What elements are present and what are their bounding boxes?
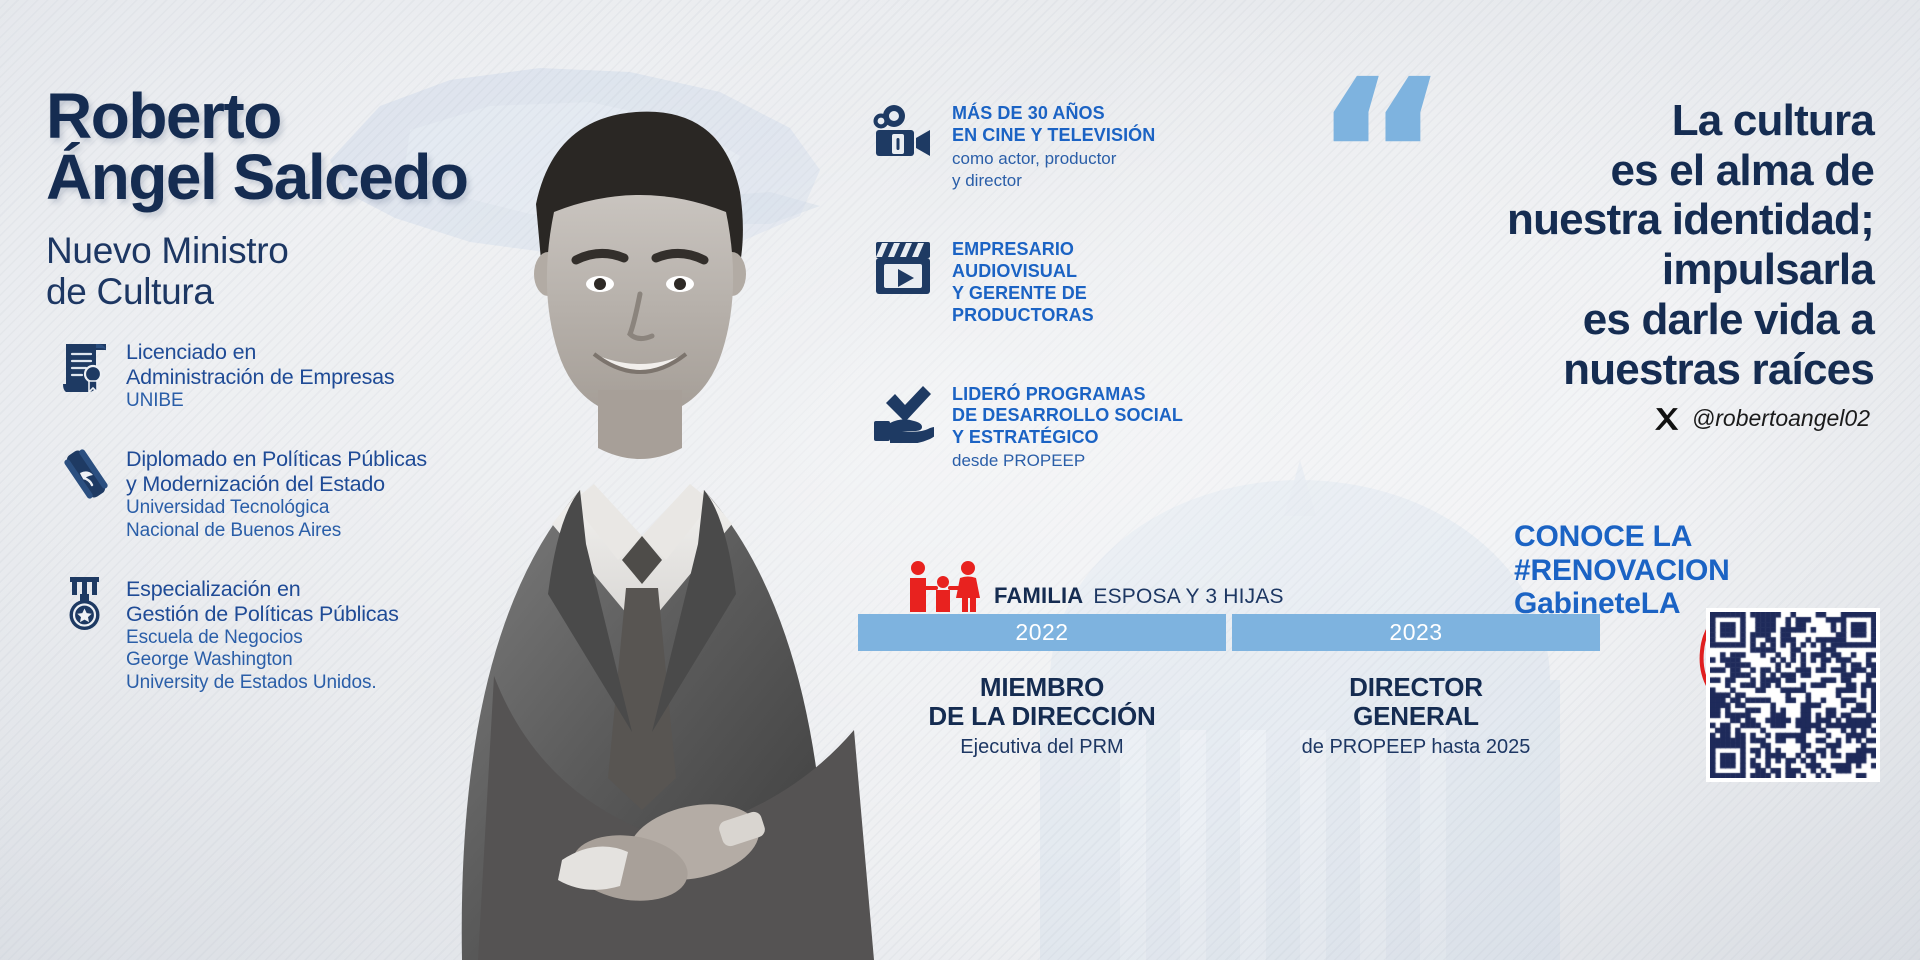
social-handle-text[interactable]: @robertoangel02 <box>1692 405 1870 432</box>
timeline-role-1: MIEMBRO DE LA DIRECCIÓN <box>858 673 1226 730</box>
fact-body-3: LIDERÓ PROGRAMAS DE DESARROLLO SOCIAL Y … <box>952 381 1183 472</box>
fact-body-2: EMPRESARIO AUDIOVISUAL Y GERENTE DE PROD… <box>952 236 1094 327</box>
clapperboard-play-icon <box>872 236 934 298</box>
fact-sub-3a: desde PROPEEP <box>952 451 1183 471</box>
credential-sub-3c: University de Estados Unidos. <box>126 672 399 694</box>
quote-block: “ La cultura es el alma de nuestra ident… <box>1254 96 1874 394</box>
x-twitter-icon[interactable] <box>1654 406 1680 432</box>
cta-line-1: CONOCE LA <box>1514 520 1744 554</box>
qr-code-canvas[interactable] <box>1710 612 1876 778</box>
timeline-col-1: MIEMBRO DE LA DIRECCIÓN Ejecutiva del PR… <box>858 673 1226 759</box>
credential-text-2: Diplomado en Políticas Públicas y Modern… <box>126 445 427 542</box>
credential-main-1a: Licenciado en <box>126 340 394 365</box>
credential-main-2b: y Modernización del Estado <box>126 472 427 497</box>
social-handle-row[interactable]: @robertoangel02 <box>1654 405 1870 432</box>
career-timeline: 2022 2023 MIEMBRO DE LA DIRECCIÓN Ejecut… <box>858 614 1600 759</box>
fact-body-1: MÁS DE 30 AÑOS EN CINE Y TELEVISIÓN como… <box>952 100 1155 192</box>
credential-text-3: Especialización en Gestión de Políticas … <box>126 575 399 694</box>
fact-head-2d: PRODUCTORAS <box>952 305 1094 327</box>
fact-head-2a: EMPRESARIO <box>952 239 1094 261</box>
fact-head-3b: DE DESARROLLO SOCIAL <box>952 405 1183 427</box>
qr-code[interactable] <box>1706 608 1880 782</box>
rolled-diploma-icon <box>60 445 112 503</box>
credential-main-3a: Especialización en <box>126 577 399 602</box>
quote-line-4: impulsarla <box>1254 245 1874 295</box>
family-row: FAMILIA ESPOSA Y 3 HIJAS <box>902 560 1284 612</box>
timeline-role-2b: GENERAL <box>1232 702 1600 731</box>
hand-checkmark-icon <box>872 381 934 443</box>
quote-text: La cultura es el alma de nuestra identid… <box>1254 96 1874 394</box>
role-line-1: Nuevo Ministro <box>46 230 289 271</box>
timeline-note-1: Ejecutiva del PRM <box>858 736 1226 759</box>
credential-sub-3b: George Washington <box>126 649 399 671</box>
fact-head-1a: MÁS DE 30 AÑOS <box>952 103 1155 125</box>
career-facts-list: MÁS DE 30 AÑOS EN CINE Y TELEVISIÓN como… <box>872 100 1232 516</box>
credential-text-1: Licenciado en Administración de Empresas… <box>126 338 394 412</box>
credential-sub-1a: UNIBE <box>126 390 394 412</box>
credential-sub-2b: Nacional de Buenos Aires <box>126 520 427 542</box>
quote-line-6: nuestras raíces <box>1254 345 1874 395</box>
quote-line-3: nuestra identidad; <box>1254 195 1874 245</box>
timeline-year-bars: 2022 2023 <box>858 614 1600 651</box>
timeline-role-1a: MIEMBRO <box>980 672 1104 702</box>
timeline-col-2: DIRECTOR GENERAL de PROPEEP hasta 2025 <box>1232 673 1600 759</box>
timeline-role-2: DIRECTOR GENERAL <box>1232 673 1600 730</box>
fact-item-1: MÁS DE 30 AÑOS EN CINE Y TELEVISIÓN como… <box>872 100 1232 192</box>
fact-item-2: EMPRESARIO AUDIOVISUAL Y GERENTE DE PROD… <box>872 236 1232 327</box>
fact-head-3c: Y ESTRATÉGICO <box>952 427 1183 449</box>
quote-line-1: La cultura <box>1254 96 1874 146</box>
credential-main-2a: Diplomado en Políticas Públicas <box>126 447 427 472</box>
film-camera-icon <box>872 100 934 162</box>
quote-line-2: es el alma de <box>1254 146 1874 196</box>
quote-line-5: es darle vida a <box>1254 295 1874 345</box>
timeline-role-labels: MIEMBRO DE LA DIRECCIÓN Ejecutiva del PR… <box>858 673 1600 759</box>
fact-head-2c: Y GERENTE DE <box>952 283 1094 305</box>
family-label: FAMILIA <box>994 583 1083 612</box>
fact-item-3: LIDERÓ PROGRAMAS DE DESARROLLO SOCIAL Y … <box>872 381 1232 472</box>
medal-icon <box>60 575 112 633</box>
credential-main-3b: Gestión de Políticas Públicas <box>126 602 399 627</box>
timeline-role-1b: DE LA DIRECCIÓN <box>858 702 1226 731</box>
timeline-note-2: de PROPEEP hasta 2025 <box>1232 736 1600 759</box>
credential-main-1b: Administración de Empresas <box>126 365 394 390</box>
family-detail: ESPOSA Y 3 HIJAS <box>1093 585 1283 612</box>
credential-sub-2a: Universidad Tecnológica <box>126 497 427 519</box>
fact-head-2b: AUDIOVISUAL <box>952 261 1094 283</box>
family-group-icon <box>902 560 984 612</box>
diploma-certificate-icon <box>60 338 112 396</box>
cta-line-2: #RENOVACION <box>1514 554 1744 588</box>
timeline-role-2a: DIRECTOR <box>1349 672 1483 702</box>
fact-head-3a: LIDERÓ PROGRAMAS <box>952 384 1183 406</box>
fact-sub-1a: como actor, productor <box>952 149 1155 169</box>
fact-sub-1b: y director <box>952 171 1155 191</box>
fact-head-1b: EN CINE Y TELEVISIÓN <box>952 125 1155 147</box>
timeline-year-2022: 2022 <box>858 614 1226 651</box>
credential-sub-3a: Escuela de Negocios <box>126 627 399 649</box>
infographic-stage: Roberto Ángel Salcedo Nuevo Ministro de … <box>0 0 1920 960</box>
